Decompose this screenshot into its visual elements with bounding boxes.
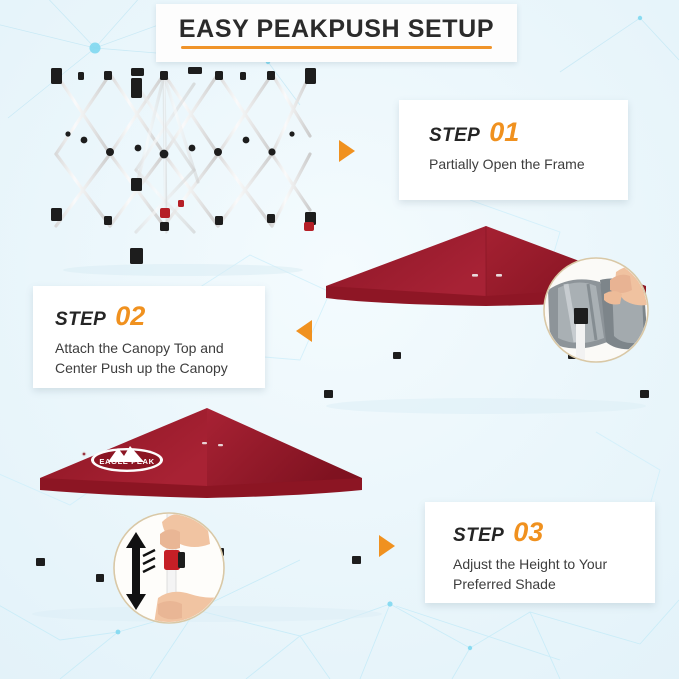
page-title: EASY PEAKPUSH SETUP [179,17,494,42]
step-label: STEP [55,310,106,329]
step-heading: STEP 01 [429,119,628,146]
title-banner: EASY PEAKPUSH SETUP [156,4,517,62]
step-number: 02 [115,303,145,330]
step-heading: STEP 02 [55,303,265,330]
step-description-line2: Center Push up the Canopy [55,358,265,378]
step-card-02: STEP 02 Attach the Canopy Top and Center… [33,286,265,388]
step-card-01: STEP 01 Partially Open the Frame [399,100,628,200]
svg-text:EAGLE PEAK: EAGLE PEAK [99,457,154,466]
step-description-line1: Attach the Canopy Top and [55,338,265,358]
step-description-line1: Adjust the Height to Your [453,554,655,574]
step-label: STEP [429,126,480,145]
illustration-canopy-frame [18,62,326,277]
step-heading: STEP 03 [453,519,655,546]
illustration-canopy-step2 [300,218,672,418]
step-label: STEP [453,526,504,545]
arrow-right-icon [379,535,395,557]
step-number: 03 [513,519,543,546]
infographic-canvas: EAGLE PEAK [0,0,679,679]
illustration-canopy-step3: EAGLE PEAK [12,398,402,626]
step-description: Partially Open the Frame [429,154,628,174]
step-card-03: STEP 03 Adjust the Height to Your Prefer… [425,502,655,603]
step-number: 01 [489,119,519,146]
arrow-right-icon [339,140,355,162]
title-underline [181,46,492,49]
step-description-line2: Preferred Shade [453,574,655,594]
arrow-left-icon [296,320,312,342]
